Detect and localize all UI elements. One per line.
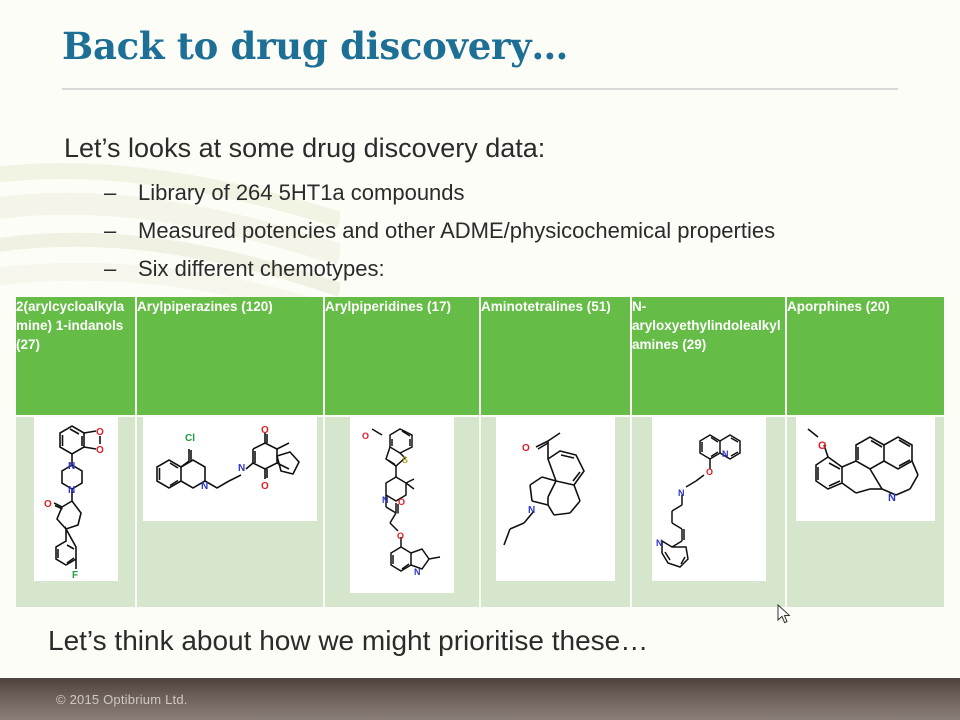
table-cell-structure: O S N O O N — [325, 415, 481, 607]
atom-label-nitrogen: N — [656, 538, 663, 548]
chemical-structure-image: O N — [796, 417, 935, 521]
list-item: – Six different chemotypes: — [104, 256, 924, 282]
bullet-marker: – — [104, 180, 138, 206]
list-item: – Measured potencies and other ADME/phys… — [104, 218, 924, 244]
atom-label-nitrogen: N — [382, 495, 389, 505]
atom-label-oxygen: O — [44, 499, 52, 510]
bullet-marker: – — [104, 218, 138, 244]
atom-label-oxygen: O — [398, 497, 405, 507]
table-cell-structure: Cl N N O O — [137, 415, 325, 607]
atom-label-chlorine: Cl — [185, 433, 195, 444]
table-cell-structure: N O N N — [632, 415, 787, 607]
table-cell-structure: O O N N O F — [16, 415, 137, 607]
chemotype-table: 2(arylcycloalkylamine) 1-indanols (27) A… — [16, 297, 944, 607]
atom-label-sulfur: S — [402, 455, 408, 465]
table-header-cell: Aporphines (20) — [787, 297, 944, 415]
lead-text: Let’s looks at some drug discovery data: — [64, 133, 545, 164]
atom-label-nitrogen: N — [201, 481, 208, 492]
chemical-structure-image: N O N N — [652, 417, 766, 581]
atom-label-nitrogen: N — [68, 461, 75, 472]
table-header-cell: Arylpiperazines (120) — [137, 297, 325, 415]
page-title: Back to drug discovery… — [62, 24, 568, 68]
atom-label-nitrogen: N — [238, 463, 245, 474]
table-cell-structure: O N — [787, 415, 944, 607]
atom-label-oxygen: O — [522, 443, 530, 454]
atom-label-nitrogen: N — [528, 505, 535, 516]
bullet-text: Six different chemotypes: — [138, 256, 385, 282]
bullet-marker: – — [104, 256, 138, 282]
atom-label-oxygen: O — [397, 531, 404, 541]
copyright-text: © 2015 Optibrium Ltd. — [56, 692, 188, 707]
chemical-structure-image: O N — [496, 417, 615, 581]
chemical-structure-image: Cl N N O O — [143, 417, 317, 521]
atom-label-nitrogen: N — [414, 567, 421, 577]
atom-label-oxygen: O — [818, 440, 827, 452]
bullet-text: Measured potencies and other ADME/physic… — [138, 218, 775, 244]
table-header-cell: 2(arylcycloalkylamine) 1-indanols (27) — [16, 297, 137, 415]
atom-label-oxygen: O — [261, 425, 269, 436]
atom-label-fluorine: F — [72, 570, 78, 579]
table-header-row: 2(arylcycloalkylamine) 1-indanols (27) A… — [16, 297, 944, 415]
atom-label-oxygen: O — [362, 431, 369, 441]
bullet-text: Library of 264 5HT1a compounds — [138, 180, 465, 206]
atom-label-oxygen: O — [261, 481, 269, 492]
atom-label-nitrogen: N — [888, 492, 896, 504]
mouse-cursor-icon — [777, 604, 791, 624]
atom-label-nitrogen: N — [68, 485, 75, 496]
closing-text: Let’s think about how we might prioritis… — [48, 625, 648, 657]
table-header-cell: N-aryloxyethylindolealkylamines (29) — [632, 297, 787, 415]
table-cell-structure: O N — [481, 415, 632, 607]
atom-label-nitrogen: N — [678, 488, 685, 498]
chemical-structure-image: O S N O O N — [350, 417, 454, 593]
table-header-cell: Arylpiperidines (17) — [325, 297, 481, 415]
chemical-structure-image: O O N N O F — [34, 417, 118, 581]
title-divider — [62, 88, 898, 90]
atom-label-oxygen: O — [706, 467, 713, 477]
slide-canvas: Back to drug discovery… Let’s looks at s… — [0, 0, 960, 720]
bullet-list: – Library of 264 5HT1a compounds – Measu… — [104, 180, 924, 294]
list-item: – Library of 264 5HT1a compounds — [104, 180, 924, 206]
atom-label-nitrogen: N — [722, 449, 729, 459]
table-header-cell: Aminotetralines (51) — [481, 297, 632, 415]
table-row: O O N N O F — [16, 415, 944, 607]
atom-label-oxygen: O — [96, 427, 104, 438]
atom-label-oxygen: O — [96, 445, 104, 456]
